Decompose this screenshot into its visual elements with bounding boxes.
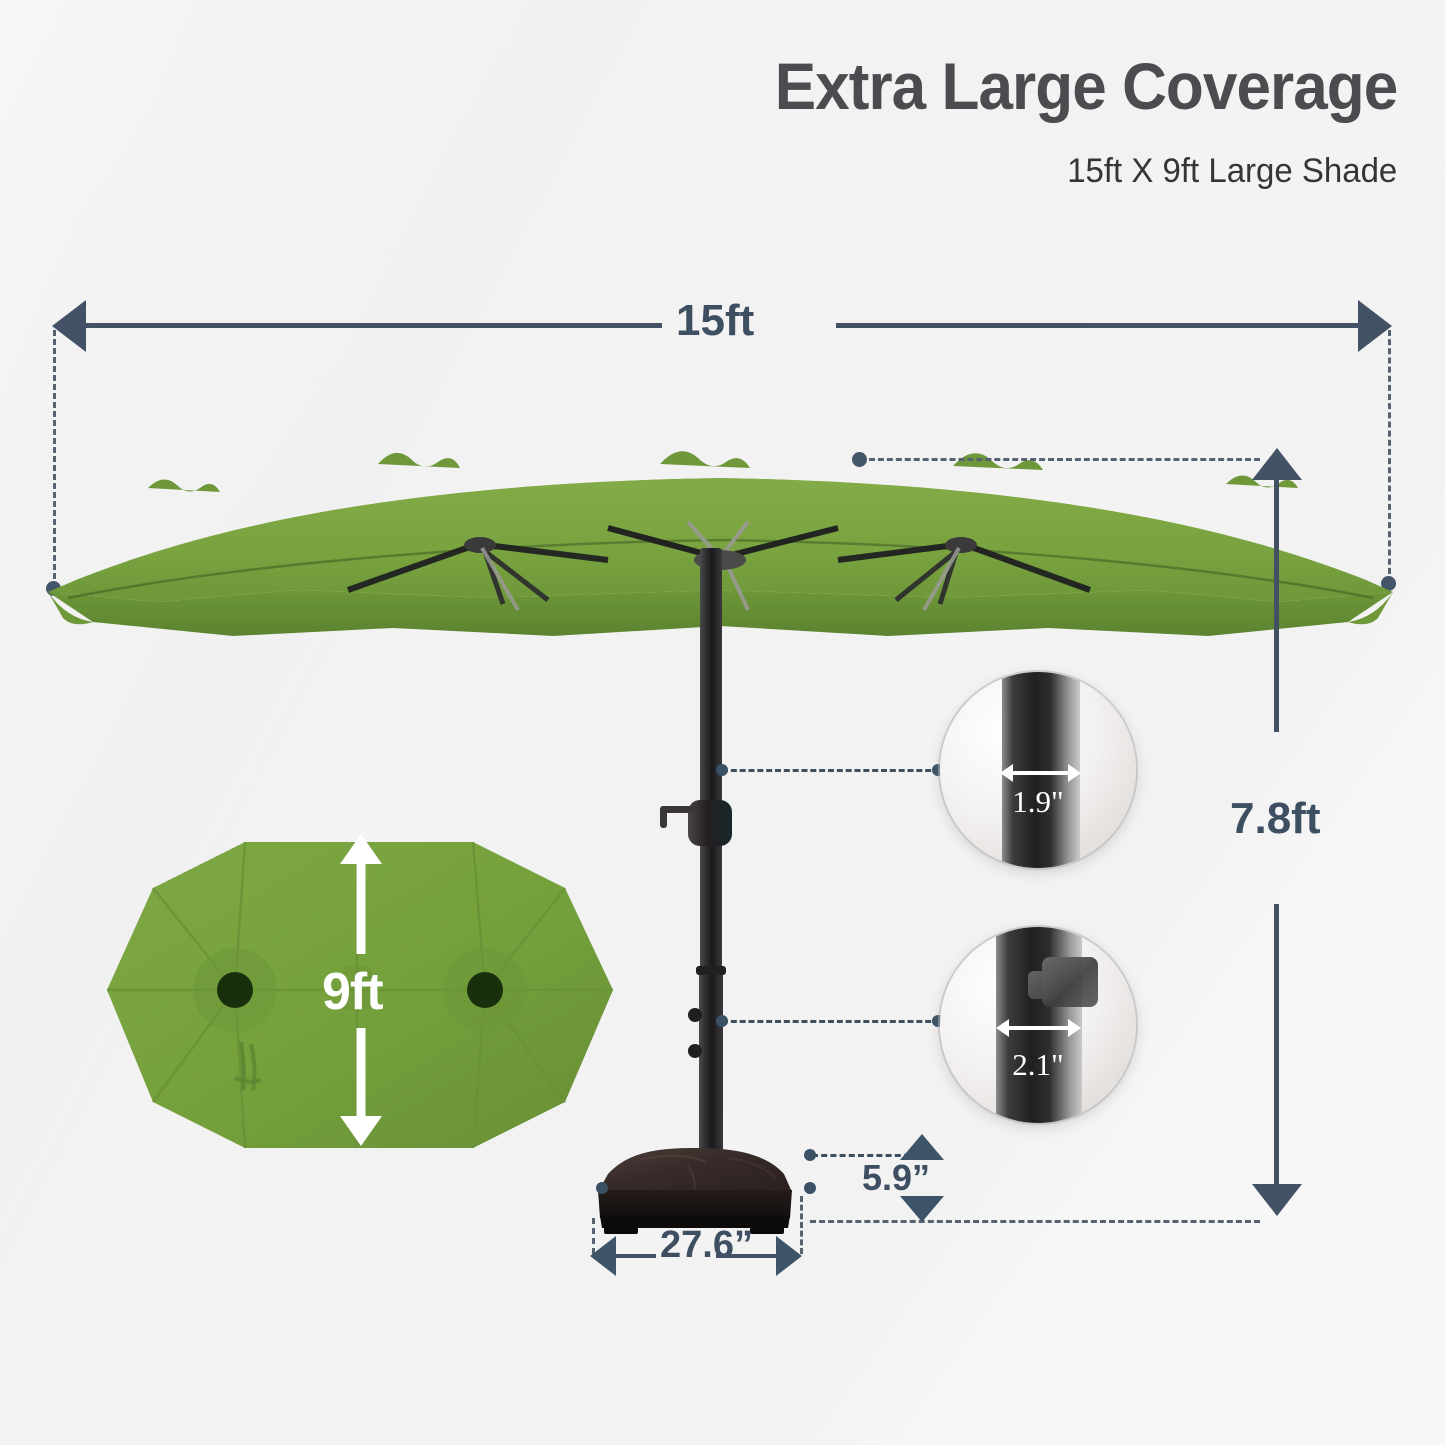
- base-width-line-right: [716, 1254, 776, 1258]
- crank-mechanism: [688, 800, 732, 846]
- base-height-bottom-dot: [804, 1182, 816, 1194]
- width-line-right: [836, 323, 1358, 328]
- infographic-canvas: Extra Large Coverage 15ft X 9ft Large Sh…: [0, 0, 1445, 1445]
- callout-2-anchor-dot: [716, 1015, 728, 1027]
- callout-1-measure-line: [1012, 771, 1070, 775]
- callout-lower-pole-diameter: 2.1": [940, 927, 1136, 1123]
- base-width-arrow-left: [590, 1236, 616, 1276]
- height-arrow-top-head: [1252, 448, 1302, 480]
- base-width-arrow-right: [776, 1236, 802, 1276]
- base-width-label: 27.6”: [660, 1224, 753, 1267]
- callout-upper-pole-diameter: 1.9": [940, 672, 1136, 868]
- height-bottom-leader: [810, 1220, 1260, 1223]
- crank-handle-grip: [660, 806, 667, 828]
- height-line-lower: [1274, 904, 1279, 1184]
- callout-2-arrow-right: [1068, 1019, 1081, 1037]
- width-arrow-left-head: [52, 300, 86, 352]
- base-height-arrow-bottom: [900, 1196, 944, 1222]
- base-height-top-dot: [804, 1149, 816, 1161]
- callout-1-anchor-dot: [716, 764, 728, 776]
- base-left-dot: [596, 1182, 608, 1194]
- callout-1-leader: [722, 769, 940, 772]
- height-label: 7.8ft: [1230, 794, 1320, 844]
- height-top-anchor-dot: [852, 452, 867, 467]
- page-subtitle: 15ft X 9ft Large Shade: [1067, 152, 1397, 191]
- base-height-label: 5.9”: [862, 1157, 930, 1199]
- height-arrow-bottom-head: [1252, 1184, 1302, 1216]
- pole-adjust-knob-lower: [688, 1044, 702, 1058]
- base-width-line-left: [616, 1254, 656, 1258]
- callout-2-label: 2.1": [940, 1047, 1136, 1083]
- callout-1-label: 1.9": [940, 784, 1136, 820]
- callout-1-arrow-right: [1068, 764, 1081, 782]
- umbrella-pole-lower: [699, 968, 723, 1168]
- pole-adjust-knob-upper: [688, 1008, 702, 1022]
- width-label: 15ft: [676, 296, 754, 346]
- crank-knob-detail-secondary: [1028, 971, 1058, 999]
- width-line-left: [86, 323, 662, 328]
- callout-2-leader: [722, 1020, 940, 1023]
- height-line-upper: [1274, 480, 1279, 732]
- callout-2-measure-line: [1008, 1026, 1070, 1030]
- width-arrow-right-head: [1358, 300, 1392, 352]
- page-title: Extra Large Coverage: [774, 48, 1397, 124]
- depth-label: 9ft: [322, 962, 383, 1022]
- height-top-leader: [860, 458, 1260, 461]
- umbrella-pole-upper: [700, 548, 722, 978]
- pole-coupling-ring: [696, 966, 726, 975]
